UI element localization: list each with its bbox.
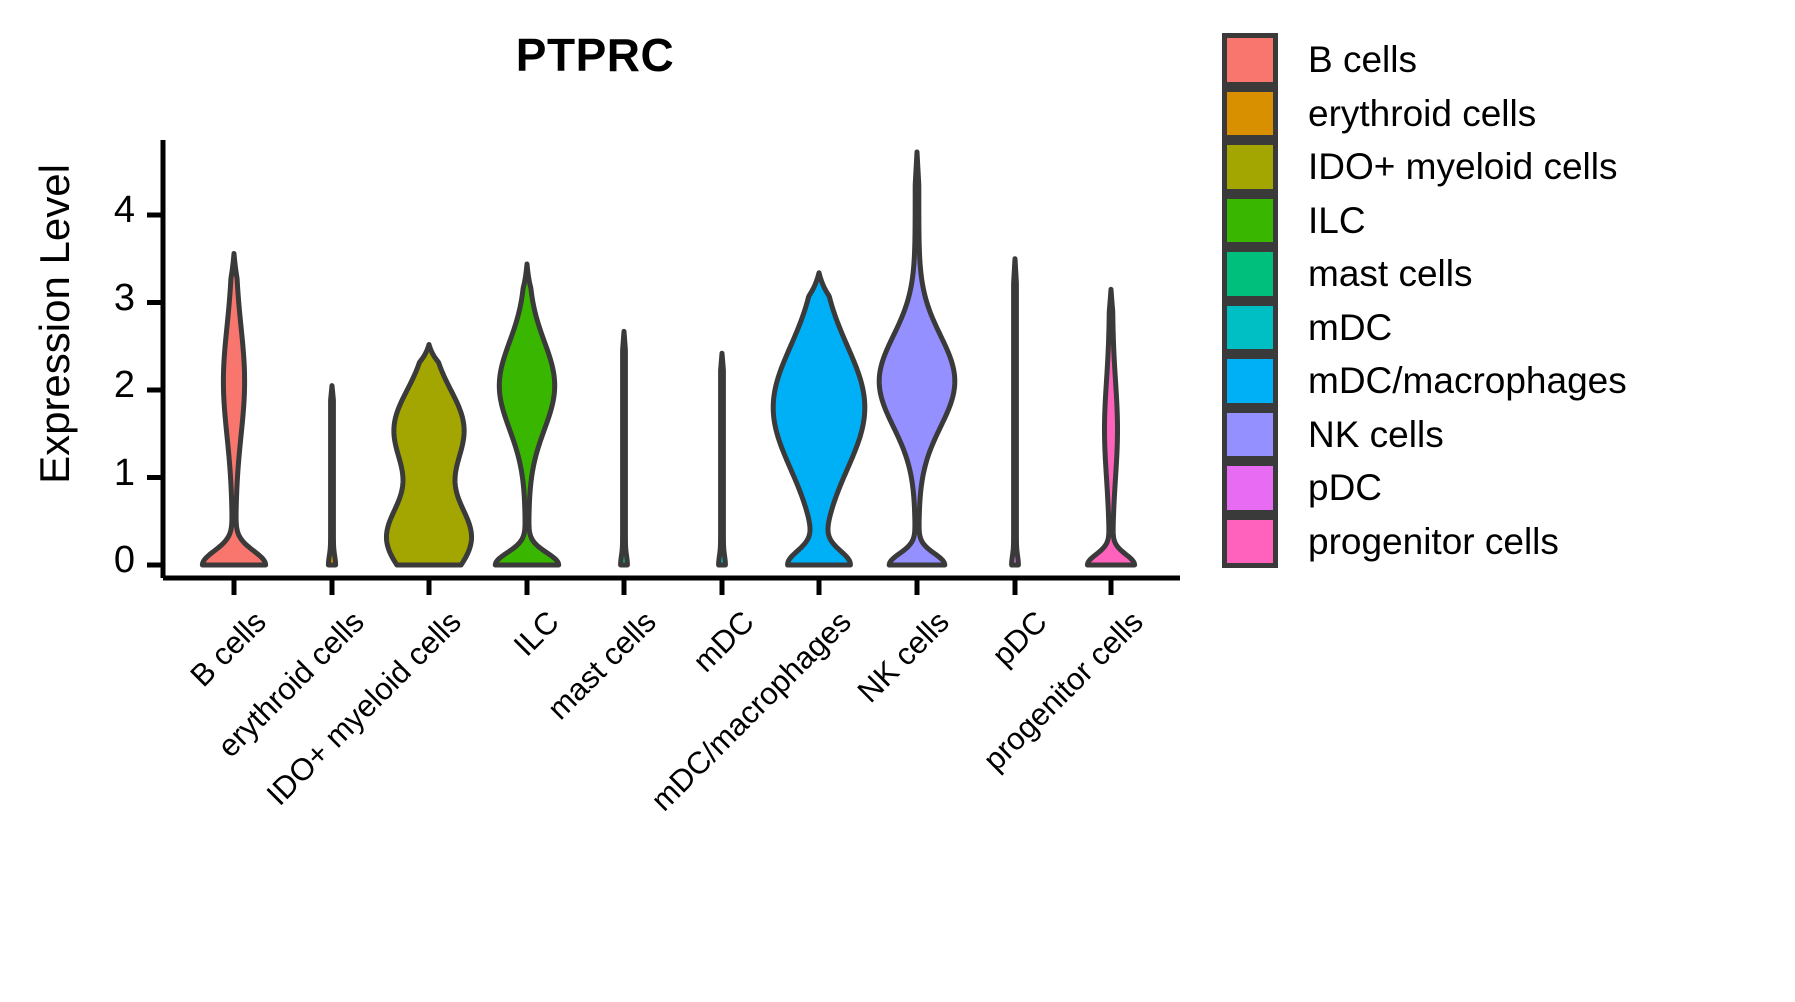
legend-color-swatch (1222, 515, 1278, 569)
legend-item[interactable]: progenitor cells (1222, 515, 1782, 569)
legend-item[interactable]: IDO+ myeloid cells (1222, 140, 1782, 194)
violin-mast-cells (621, 331, 628, 565)
legend-item-label: B cells (1308, 41, 1417, 78)
legend-color-swatch (1222, 140, 1278, 194)
violin-mdc (719, 353, 726, 565)
y-tick-label: 1 (75, 452, 135, 495)
legend-item[interactable]: pDC (1222, 461, 1782, 515)
legend-color-swatch (1222, 461, 1278, 515)
legend: B cellserythroid cellsIDO+ myeloid cells… (1222, 33, 1782, 568)
legend-item[interactable]: mast cells (1222, 247, 1782, 301)
violin-nk-cells (879, 152, 955, 565)
violin-ilc (495, 264, 558, 565)
legend-item-label: progenitor cells (1308, 523, 1559, 560)
legend-color-swatch (1222, 408, 1278, 462)
legend-item-label: erythroid cells (1308, 95, 1536, 132)
legend-color-swatch (1222, 33, 1278, 87)
violin-pdc (1012, 259, 1019, 565)
legend-item-label: NK cells (1308, 416, 1444, 453)
violin-plot-figure: PTPRC Expression Level 01234B cellseryth… (0, 0, 1795, 1002)
plot-area: 01234B cellserythroid cellsIDO+ myeloid … (0, 0, 1190, 1002)
violin-progenitor-cells (1087, 289, 1134, 565)
legend-item-label: IDO+ myeloid cells (1308, 148, 1617, 185)
legend-color-swatch (1222, 301, 1278, 355)
y-tick-label: 3 (75, 277, 135, 320)
legend-item[interactable]: NK cells (1222, 408, 1782, 462)
violin-b-cells (202, 254, 265, 566)
legend-item-label: ILC (1308, 202, 1366, 239)
legend-item[interactable]: B cells (1222, 33, 1782, 87)
y-tick-label: 0 (75, 539, 135, 582)
legend-item[interactable]: erythroid cells (1222, 87, 1782, 141)
legend-item-label: mDC/macrophages (1308, 362, 1627, 399)
legend-item[interactable]: mDC/macrophages (1222, 354, 1782, 408)
violin-mdc-macrophages (773, 273, 865, 565)
legend-color-swatch (1222, 87, 1278, 141)
legend-color-swatch (1222, 247, 1278, 301)
legend-item-label: mDC (1308, 309, 1392, 346)
legend-color-swatch (1222, 354, 1278, 408)
legend-item-label: pDC (1308, 469, 1382, 506)
violin-ido-myeloid-cells (386, 345, 471, 566)
legend-item-label: mast cells (1308, 255, 1472, 292)
legend-color-swatch (1222, 194, 1278, 248)
y-tick-label: 4 (75, 189, 135, 232)
legend-item[interactable]: mDC (1222, 301, 1782, 355)
violin-erythroid-cells (328, 386, 335, 565)
legend-item[interactable]: ILC (1222, 194, 1782, 248)
y-tick-label: 2 (75, 364, 135, 407)
